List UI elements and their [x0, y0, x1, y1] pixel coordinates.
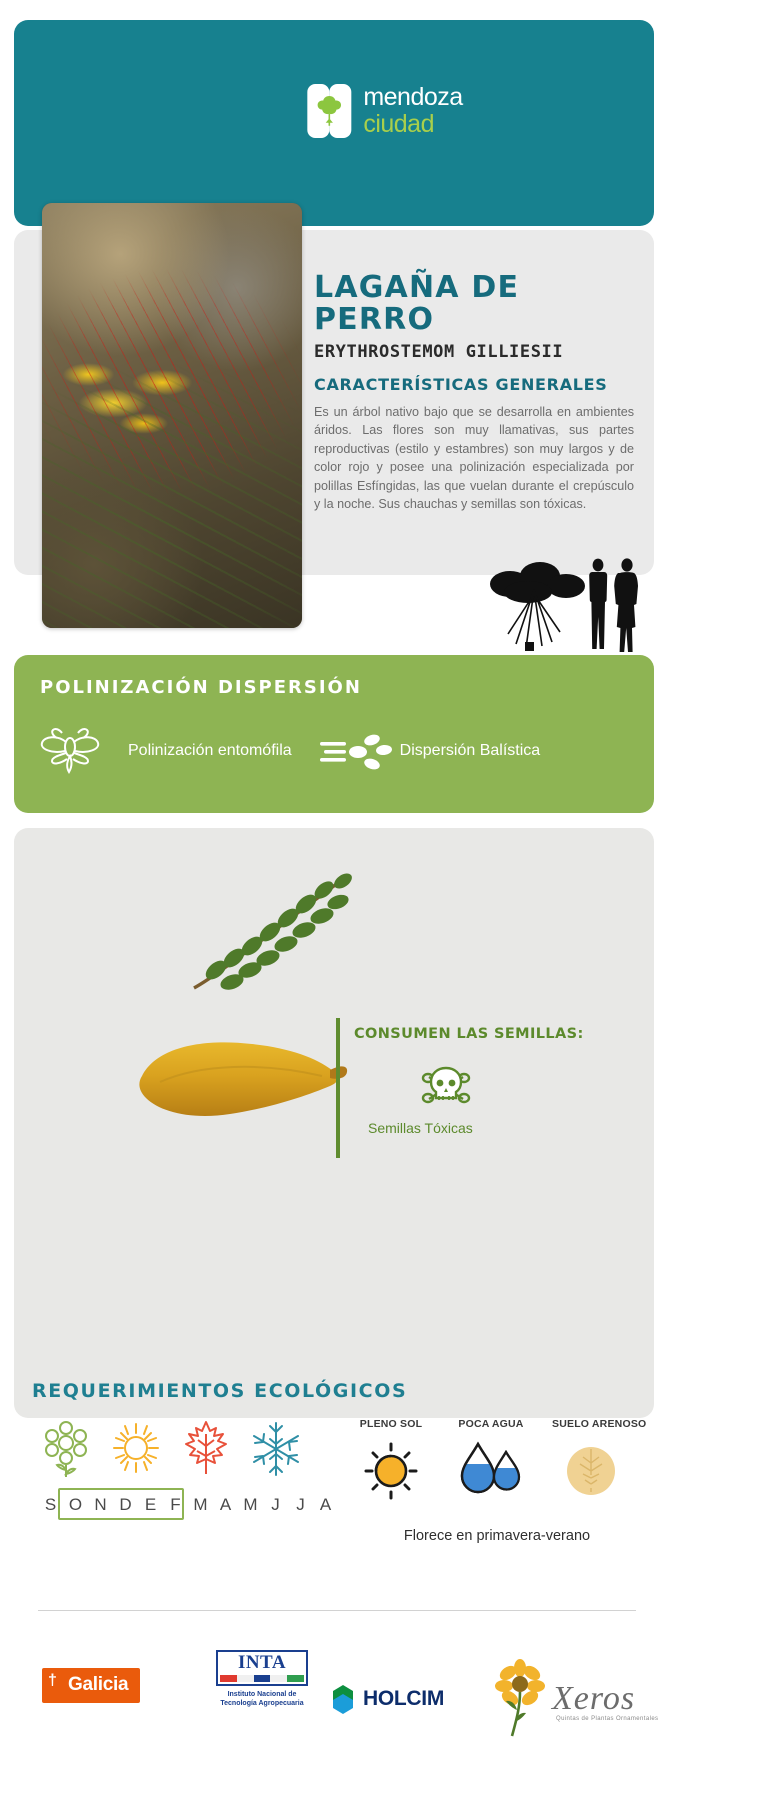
- month-cell: J: [288, 1492, 313, 1518]
- species-description: Es un árbol nativo bajo que se desarroll…: [314, 403, 634, 513]
- infographic-page: mendoza ciudad LAGAÑA DE PERRO ERYTHROST…: [0, 0, 768, 1799]
- inta-bar: [270, 1675, 287, 1682]
- leaf-autumn-icon-wrap: [180, 1420, 232, 1478]
- inta-bar: [237, 1675, 254, 1682]
- flower-spring-icon: [40, 1420, 92, 1478]
- snowflake-winter-icon-wrap: [250, 1420, 302, 1478]
- seed-pod-image: [130, 1030, 350, 1135]
- condition-soil: SUELO ARENOSO: [552, 1418, 630, 1502]
- galicia-logo[interactable]: † Galicia: [42, 1668, 140, 1703]
- general-characteristics-heading: CARACTERÍSTICAS GENERALES: [314, 375, 634, 394]
- people-silhouette: [589, 558, 638, 652]
- galicia-cross-icon: †: [48, 1673, 57, 1689]
- growing-conditions-group: PLENO SOL POCA AGUA: [352, 1418, 632, 1502]
- logo-wordmark: mendoza ciudad: [363, 85, 462, 137]
- pollination-label: Polinización entomófila: [128, 742, 292, 760]
- xeros-subtitle: Quintas de Plantas Ornamentales: [556, 1716, 658, 1722]
- month-cell: J: [263, 1492, 288, 1518]
- month-cell: M: [238, 1492, 263, 1518]
- inta-bar: [254, 1675, 271, 1682]
- sponsor-logos-row: † Galicia INTA Instituto Nacional de Tec…: [30, 1646, 650, 1756]
- logo-line-2: ciudad: [363, 112, 462, 137]
- ecological-requirements-title: REQUERIMIENTOS ECOLÓGICOS: [32, 1380, 407, 1402]
- pollination-dispersal-band: POLINIZACIÓN DISPERSIÓN Polinizació: [14, 655, 654, 813]
- pollination-items-row: Polinización entomófila Dispersión Balís: [38, 727, 634, 775]
- scale-silhouettes: [468, 556, 646, 652]
- holcim-wordmark: HOLCIM: [363, 1687, 444, 1711]
- condition-water: POCA AGUA: [452, 1418, 530, 1502]
- condition-caption: PLENO SOL: [352, 1418, 430, 1430]
- season-icons-row: [40, 1420, 302, 1478]
- holcim-mark-icon: [330, 1684, 356, 1714]
- sun-summer-icon-wrap: [110, 1420, 162, 1478]
- moth-icon: [38, 727, 122, 775]
- condition-sun: PLENO SOL: [352, 1418, 430, 1502]
- inta-box: INTA: [216, 1650, 308, 1686]
- galicia-wordmark: Galicia: [68, 1674, 128, 1695]
- dispersal-item: Dispersión Balística: [318, 728, 541, 774]
- toxic-seeds-label: Semillas Tóxicas: [368, 1120, 473, 1136]
- inta-bars: [220, 1675, 304, 1682]
- full-sun-icon: [360, 1438, 422, 1500]
- pollination-item: Polinización entomófila: [38, 727, 292, 775]
- consume-seeds-title: CONSUMEN LAS SEMILLAS:: [354, 1026, 584, 1042]
- leaf-autumn-icon: [180, 1420, 232, 1478]
- logo-line-1: mendoza: [363, 85, 462, 110]
- pollination-band-title: POLINIZACIÓN DISPERSIÓN: [40, 677, 362, 698]
- flowering-period-highlight: [58, 1488, 184, 1520]
- inta-caption-line2: Tecnología Agropecuaria: [216, 1700, 308, 1709]
- compound-leaf-image: [180, 870, 360, 1000]
- condition-caption: SUELO ARENOSO: [552, 1418, 630, 1430]
- mendoza-ciudad-logo: mendoza ciudad: [305, 82, 462, 140]
- snowflake-winter-icon: [250, 1420, 302, 1478]
- photo-foliage-layer: [42, 203, 302, 628]
- mendoza-tree-logo-icon: [305, 82, 353, 140]
- holcim-logo[interactable]: HOLCIM: [330, 1684, 444, 1714]
- growing-conditions-row: PLENO SOL POCA AGUA: [352, 1418, 632, 1502]
- sandy-soil-icon: [560, 1438, 622, 1500]
- xeros-flower-icon: [490, 1658, 550, 1738]
- species-photo: [42, 203, 302, 628]
- inta-logo[interactable]: INTA Instituto Nacional de Tecnología Ag…: [216, 1650, 308, 1708]
- low-water-icon: [456, 1438, 526, 1500]
- tree-silhouette: [490, 562, 585, 651]
- month-cell: A: [213, 1492, 238, 1518]
- scientific-name: ERYTHROSTEMOM GILLIESII: [314, 342, 634, 362]
- skull-crossbones-icon: [420, 1062, 472, 1114]
- flower-spring-icon-wrap: [40, 1420, 92, 1478]
- sun-summer-icon: [110, 1420, 162, 1478]
- inta-wordmark: INTA: [220, 1653, 304, 1673]
- xeros-wordmark: Xeros: [552, 1680, 635, 1718]
- condition-icon-wrap: [552, 1436, 630, 1502]
- condition-icon-wrap: [352, 1436, 430, 1502]
- condition-caption: POCA AGUA: [452, 1418, 530, 1430]
- common-name-title: LAGAÑA DE PERRO: [314, 272, 634, 335]
- month-cell: M: [188, 1492, 213, 1518]
- inta-caption-line1: Instituto Nacional de: [216, 1691, 308, 1700]
- section-divider: [336, 1018, 340, 1158]
- bloom-note: Florece en primavera-verano: [352, 1528, 642, 1544]
- footer-separator: [38, 1610, 636, 1611]
- month-cell: A: [313, 1492, 338, 1518]
- dispersal-label: Dispersión Balística: [400, 742, 541, 760]
- ballistic-dispersal-icon: [318, 728, 394, 774]
- inta-bar: [220, 1675, 237, 1682]
- inta-bar: [287, 1675, 304, 1682]
- xeros-logo[interactable]: Xeros Quintas de Plantas Ornamentales: [490, 1658, 660, 1742]
- condition-icon-wrap: [452, 1436, 530, 1502]
- species-text-column: LAGAÑA DE PERRO ERYTHROSTEMOM GILLIESII …: [314, 272, 634, 513]
